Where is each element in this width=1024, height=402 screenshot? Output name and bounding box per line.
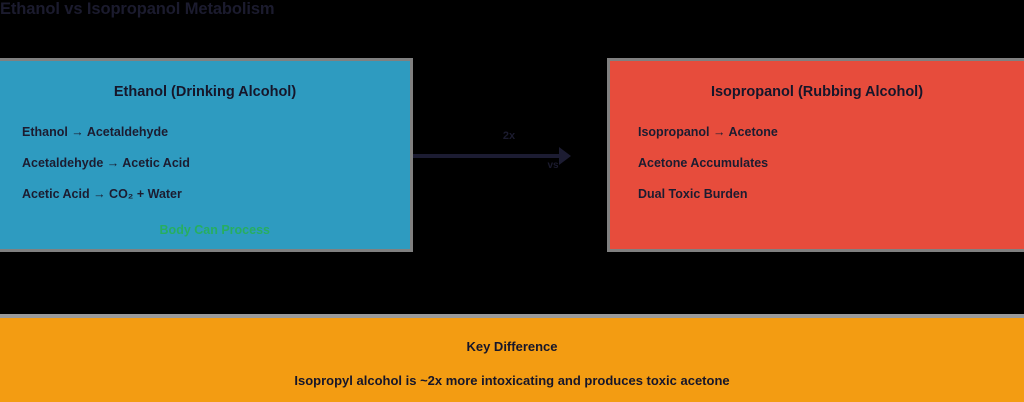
connector-line bbox=[413, 154, 563, 158]
ethanol-step-3: Acetic Acid → CO₂ + Water bbox=[0, 179, 410, 210]
ethanol-step-2: Acetaldehyde → Acetic Acid bbox=[0, 148, 410, 179]
connector-sublabel: vs bbox=[523, 160, 583, 172]
ethanol-card-note: Body Can Process bbox=[0, 222, 410, 238]
ethanol-step-1: Ethanol → Acetaldehyde bbox=[0, 117, 410, 148]
isopropanol-card-body: Isopropanol → Acetone Acetone Accumulate… bbox=[610, 117, 1024, 210]
connector-label: 2x bbox=[469, 130, 549, 143]
isopropanol-step-2: Acetone Accumulates bbox=[610, 148, 1024, 179]
isopropanol-card: Isopropanol (Rubbing Alcohol) Isopropano… bbox=[607, 58, 1024, 252]
page-title: Ethanol vs Isopropanol Metabolism bbox=[0, 0, 318, 19]
ethanol-card: Ethanol (Drinking Alcohol) Ethanol → Ace… bbox=[0, 58, 413, 252]
ethanol-card-header: Ethanol (Drinking Alcohol) bbox=[0, 83, 410, 101]
key-difference-banner: Key Difference Isopropyl alcohol is ~2x … bbox=[0, 314, 1024, 402]
key-difference-title: Key Difference bbox=[0, 339, 1024, 355]
comparison-connector: 2x vs bbox=[413, 130, 607, 170]
isopropanol-step-3: Dual Toxic Burden bbox=[610, 179, 1024, 210]
isopropanol-card-header: Isopropanol (Rubbing Alcohol) bbox=[610, 83, 1024, 101]
key-difference-text: Isopropyl alcohol is ~2x more intoxicati… bbox=[0, 373, 1024, 389]
isopropanol-step-1: Isopropanol → Acetone bbox=[610, 117, 1024, 148]
ethanol-card-body: Ethanol → Acetaldehyde Acetaldehyde → Ac… bbox=[0, 117, 410, 210]
